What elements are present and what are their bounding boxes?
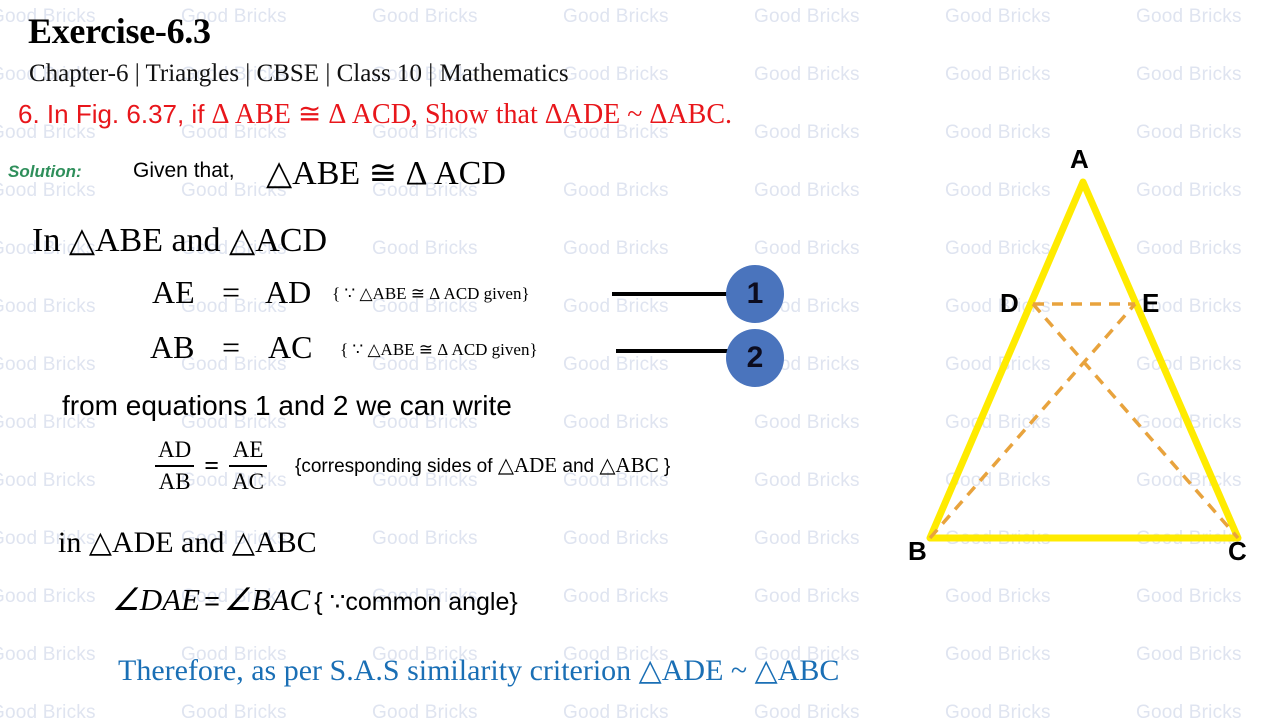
page-title: Exercise-6.3 (28, 10, 211, 52)
vertex-label-a: A (1070, 144, 1089, 175)
segment-be (930, 304, 1135, 538)
equation-1-connector-line (612, 292, 727, 296)
proportion-statement: AD AB = AE AC {corresponding sides of △A… (155, 437, 670, 495)
equation-2-reason: { ∵ △ABE ≅ Δ ACD given} (340, 340, 538, 360)
equation-2-badge: 2 (726, 329, 784, 387)
question-congruence-text: Δ ABE ≅ Δ ACD, Show that ΔADE ~ ΔABC. (211, 99, 732, 130)
vertex-label-d: D (1000, 288, 1019, 319)
equation-2-equals: = (222, 329, 240, 366)
equation-2-right: AC (268, 329, 312, 366)
solution-label: Solution: (8, 162, 82, 182)
in-ade-abc-statement: in △ADE and △ABC (58, 525, 317, 560)
fraction-right-denominator: AC (229, 469, 267, 495)
vertex-label-e: E (1142, 288, 1159, 319)
proportion-note-mid: and (557, 456, 599, 477)
equation-1-badge: 1 (726, 265, 784, 323)
equation-2-left: AB (150, 329, 194, 366)
fraction-left-bar (155, 465, 194, 467)
vertex-label-c: C (1228, 536, 1247, 567)
equation-1-left: AE (152, 274, 195, 311)
fraction-right: AE AC (229, 437, 267, 495)
angle-equals: = (204, 586, 220, 616)
page-subtitle: Chapter-6 | Triangles | CBSE | Class 10 … (29, 60, 569, 88)
slide-page: Good BricksGood BricksGood BricksGood Br… (0, 0, 1280, 720)
angle-reason: { ∵common angle} (314, 588, 518, 616)
proportion-note-suffix: } (659, 456, 671, 477)
proportion-note-triangle-2: △ABC (599, 453, 658, 477)
angle-equality-statement: ∠DAE = ∠BAC { ∵common angle} (112, 582, 518, 618)
fraction-left-denominator: AB (156, 469, 194, 495)
conclusion-statement: Therefore, as per S.A.S similarity crite… (118, 653, 839, 688)
given-congruence-statement: △ABE ≅ Δ ACD (266, 153, 506, 193)
in-triangles-statement: In △ABE and △ACD (32, 220, 327, 260)
equation-1-right: AD (265, 274, 311, 311)
question-number-text: 6. In Fig. 6.37, if (18, 99, 204, 129)
from-equations-text: from equations 1 and 2 we can write (62, 390, 512, 422)
fraction-equals: = (204, 451, 219, 481)
triangle-diagram: A B C D E (880, 140, 1280, 580)
triangle-dashed-edges (930, 304, 1238, 538)
angle-bac: ∠BAC (224, 582, 310, 617)
fraction-right-numerator: AE (230, 437, 267, 463)
fraction-right-bar (229, 465, 267, 467)
triangle-diagram-svg (880, 140, 1280, 580)
fraction-left-numerator: AD (155, 437, 194, 463)
vertex-label-b: B (908, 536, 927, 567)
proportion-note-triangle-1: △ADE (498, 453, 557, 477)
angle-dae: ∠DAE (112, 582, 200, 617)
equation-1-reason: { ∵ △ABE ≅ Δ ACD given} (332, 284, 530, 304)
content-layer: Exercise-6.3 Chapter-6 | Triangles | CBS… (0, 0, 1280, 720)
given-that-label: Given that, (133, 159, 235, 183)
equation-2-connector-line (616, 349, 728, 353)
equation-1-equals: = (222, 274, 240, 311)
fraction-left: AD AB (155, 437, 194, 495)
segment-dc (1033, 304, 1238, 538)
proportion-note-prefix: {corresponding sides of (295, 456, 498, 477)
question-statement: 6. In Fig. 6.37, if Δ ABE ≅ Δ ACD, Show … (18, 97, 732, 131)
proportion-note: {corresponding sides of △ADE and △ABC } (295, 453, 670, 478)
